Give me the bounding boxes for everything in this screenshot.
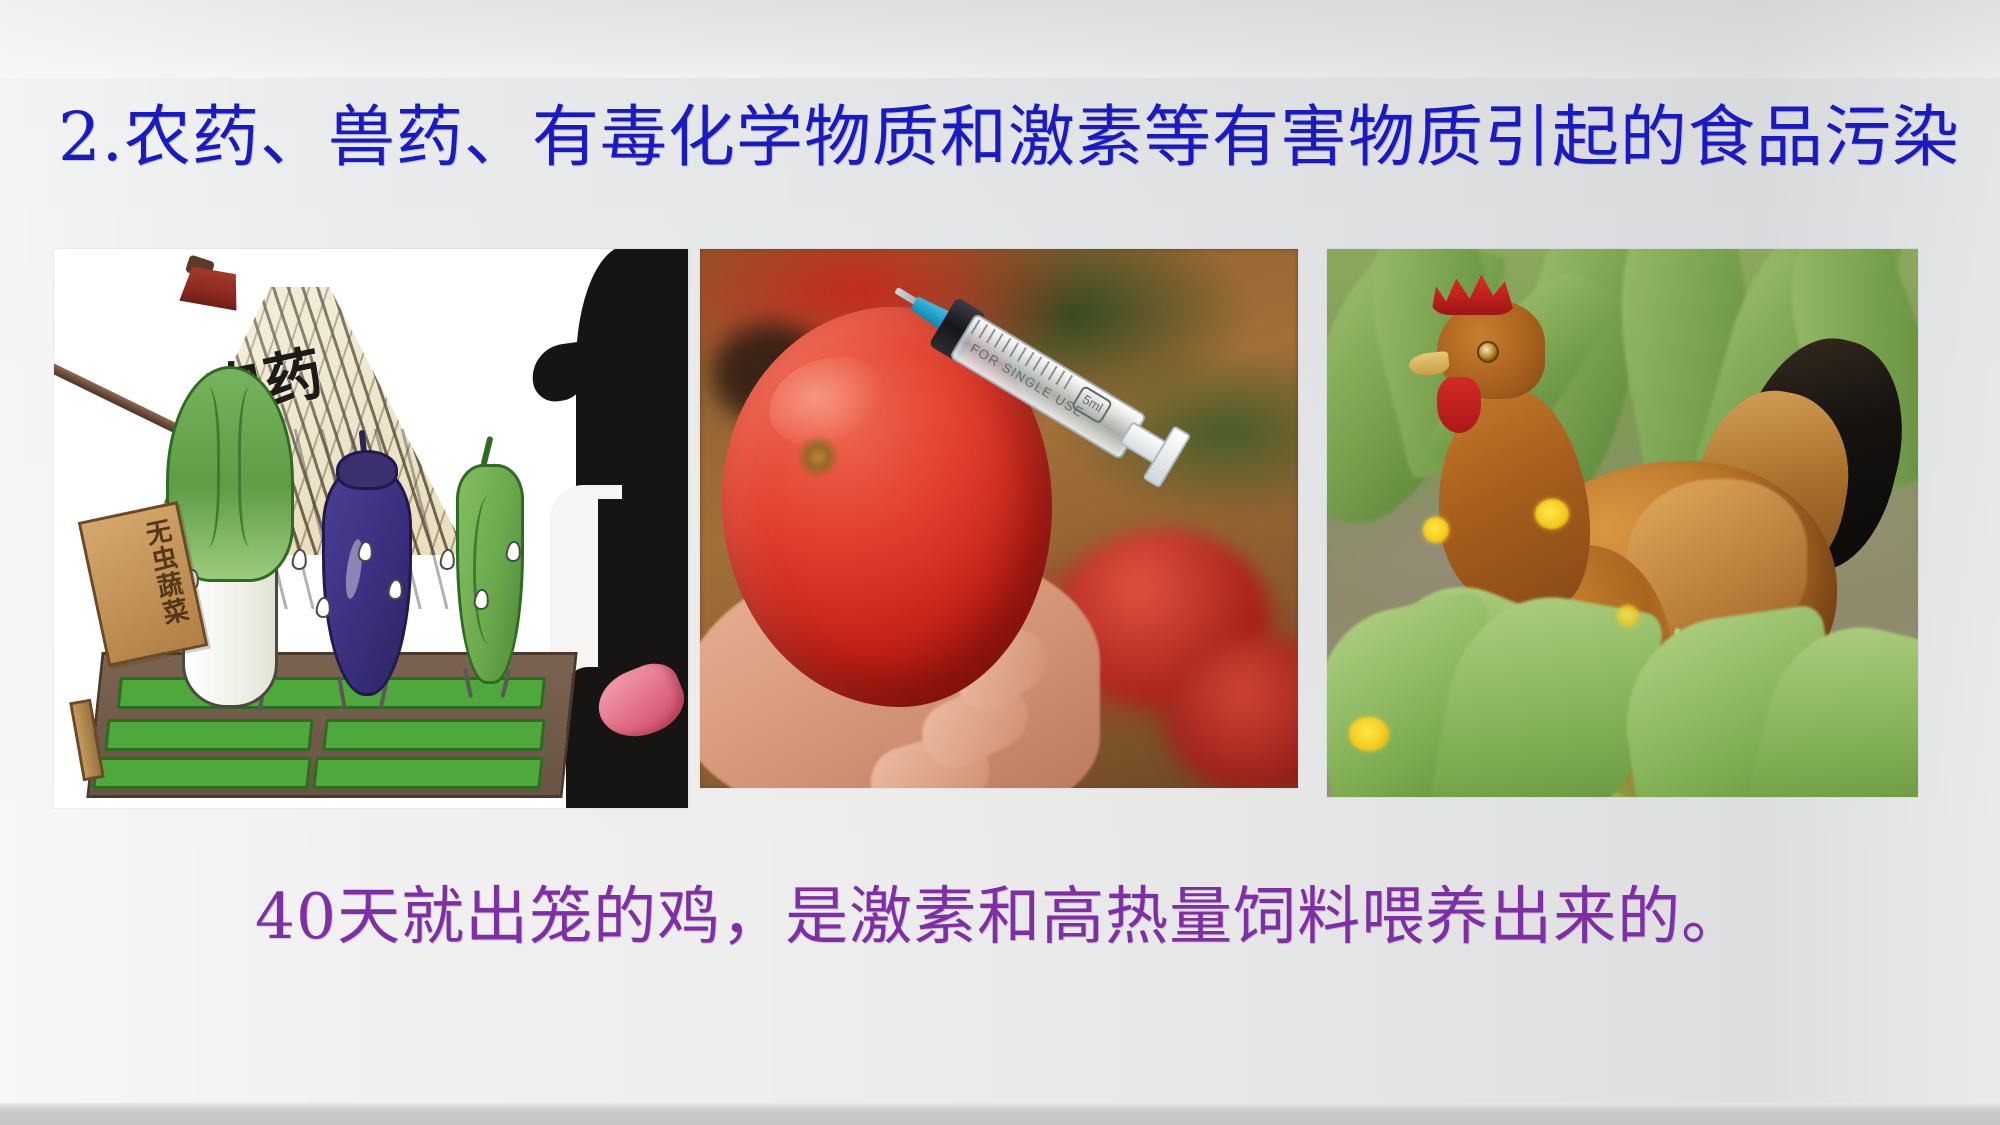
slide-caption: 40天就出笼的鸡，是激素和高热量饲料喂养出来的。 — [0, 878, 2000, 956]
yellow-flower — [1423, 517, 1449, 543]
cartoon-eggplant — [322, 440, 406, 690]
image-tomato-syringe-injection: FOR SINGLE USE 5ml — [700, 249, 1298, 788]
plot-row — [92, 757, 311, 789]
person-silhouette-head-icon — [576, 249, 688, 515]
background-top-band — [0, 0, 2000, 78]
eggplant-calyx — [336, 450, 398, 490]
pea-pod-body — [456, 464, 524, 684]
background-bottom-band — [0, 1103, 2000, 1125]
slide-canvas: 2.农药、兽药、有毒化学物质和激素等有害物质引起的食品污染 农药 — [0, 0, 2000, 1125]
tomato-photo-stage: FOR SINGLE USE 5ml — [700, 249, 1298, 788]
chicken-photo-stage — [1327, 249, 1918, 797]
cartoon-stage: 农药 — [54, 249, 688, 808]
rooster-wattle — [1437, 377, 1481, 433]
image-pesticide-spray-cartoon: 农药 — [54, 249, 688, 808]
rooster-eye — [1477, 341, 1499, 363]
plot-row — [312, 757, 543, 789]
yellow-flower — [1617, 605, 1639, 627]
slide-title: 2.农药、兽药、有毒化学物质和激素等有害物质引起的食品污染 — [58, 96, 1958, 178]
pea-stalk — [480, 436, 493, 467]
image-free-range-chicken — [1327, 249, 1918, 797]
wooden-sign-text: 无虫蔬菜 — [93, 516, 193, 651]
cartoon-pea-pod — [456, 448, 518, 678]
yellow-flower — [1535, 499, 1569, 529]
person-silhouette-chin — [598, 499, 688, 679]
yellow-flower — [1349, 717, 1389, 751]
plot-row — [104, 719, 313, 751]
plot-row — [322, 719, 545, 751]
